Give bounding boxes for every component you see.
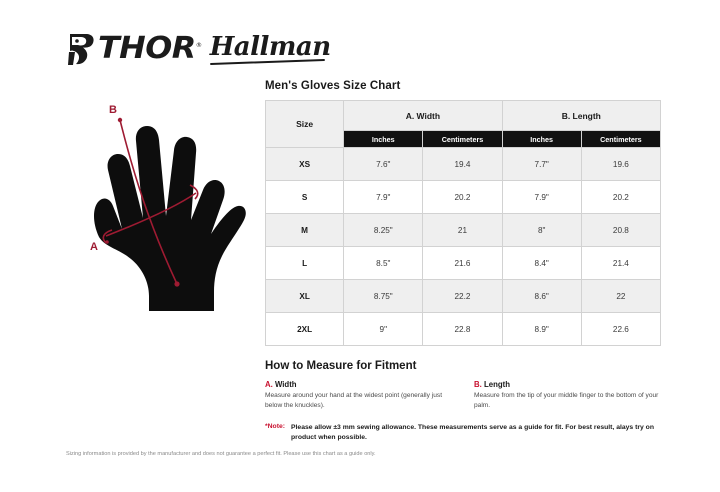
how-to-measure-title: How to Measure for Fitment [265, 360, 661, 372]
cell-size: XL [266, 280, 344, 313]
measure-width-heading: A. Width [265, 380, 452, 389]
cell-length-centimeters: 21.4 [581, 247, 660, 280]
measure-width-letter: A. [265, 380, 273, 389]
cell-length-centimeters: 20.8 [581, 214, 660, 247]
table-row: L 8.5" 21.6 8.4" 21.4 [266, 247, 661, 280]
table-row: S 7.9" 20.2 7.9" 20.2 [266, 181, 661, 214]
cell-width-inches: 8.75" [344, 280, 423, 313]
column-header-length-inches: Inches [502, 131, 581, 148]
cell-width-centimeters: 21 [423, 214, 502, 247]
cell-width-inches: 8.5" [344, 247, 423, 280]
thor-hammer-emblem [66, 32, 96, 66]
table-row: XL 8.75" 22.2 8.6" 22 [266, 280, 661, 313]
cell-width-inches: 7.9" [344, 181, 423, 214]
brand-header: THOR® Hallman [66, 32, 331, 66]
hallman-logo: Hallman [210, 36, 331, 62]
cell-size: L [266, 247, 344, 280]
measure-width-name: Width [273, 380, 297, 389]
cell-size: XS [266, 148, 344, 181]
cell-width-inches: 8.25" [344, 214, 423, 247]
cell-length-centimeters: 20.2 [581, 181, 660, 214]
cell-width-centimeters: 21.6 [423, 247, 502, 280]
cell-width-centimeters: 20.2 [423, 181, 502, 214]
cell-width-inches: 9" [344, 313, 423, 346]
cell-width-centimeters: 22.2 [423, 280, 502, 313]
column-group-length: B. Length [502, 101, 660, 131]
measure-length-block: B. Length Measure from the tip of your m… [474, 380, 661, 411]
diagram-label-b: B [109, 104, 117, 116]
cell-size: S [266, 181, 344, 214]
hallman-wordmark: Hallman [210, 32, 331, 62]
table-header-row-groups: Size A. Width B. Length [266, 101, 661, 131]
thor-logo: THOR® [66, 32, 196, 66]
cell-length-centimeters: 22.6 [581, 313, 660, 346]
cell-length-centimeters: 22 [581, 280, 660, 313]
diagram-label-a: A [90, 241, 98, 253]
column-header-width-inches: Inches [344, 131, 423, 148]
registered-trademark-icon: ® [196, 42, 202, 49]
page-title: Men's Gloves Size Chart [265, 80, 661, 92]
measure-length-letter: B. [474, 380, 482, 389]
measure-width-block: A. Width Measure around your hand at the… [265, 380, 452, 411]
cell-length-inches: 8.6" [502, 280, 581, 313]
note-label: *Note: [265, 423, 285, 430]
cell-length-inches: 8" [502, 214, 581, 247]
measure-length-heading: B. Length [474, 380, 661, 389]
thor-wordmark: THOR® [98, 34, 202, 64]
cell-length-centimeters: 19.6 [581, 148, 660, 181]
table-row: M 8.25" 21 8" 20.8 [266, 214, 661, 247]
note-row: *Note: Please allow ±3 mm sewing allowan… [265, 423, 661, 444]
cell-size: M [266, 214, 344, 247]
cell-size: 2XL [266, 313, 344, 346]
cell-length-inches: 8.4" [502, 247, 581, 280]
cell-width-inches: 7.6" [344, 148, 423, 181]
column-header-length-centimeters: Centimeters [581, 131, 660, 148]
size-chart-panel: Men's Gloves Size Chart Size A. Width B.… [265, 80, 661, 444]
cell-length-inches: 8.9" [502, 313, 581, 346]
cell-length-inches: 7.7" [502, 148, 581, 181]
hand-measurement-diagram: B A [72, 96, 262, 316]
cell-width-centimeters: 19.4 [423, 148, 502, 181]
table-row: 2XL 9" 22.8 8.9" 22.6 [266, 313, 661, 346]
table-row: XS 7.6" 19.4 7.7" 19.6 [266, 148, 661, 181]
column-group-width: A. Width [344, 101, 502, 131]
size-chart-table: Size A. Width B. Length Inches Centimete… [265, 100, 661, 346]
column-header-width-centimeters: Centimeters [423, 131, 502, 148]
measure-length-description: Measure from the tip of your middle fing… [474, 391, 661, 411]
measure-length-name: Length [482, 380, 510, 389]
column-header-size: Size [266, 101, 344, 148]
cell-length-inches: 7.9" [502, 181, 581, 214]
footer-disclaimer: Sizing information is provided by the ma… [66, 450, 396, 460]
how-to-measure-section: How to Measure for Fitment A. Width Meas… [265, 360, 661, 411]
note-text: Please allow ±3 mm sewing allowance. The… [291, 423, 661, 444]
measure-width-description: Measure around your hand at the widest p… [265, 391, 452, 411]
cell-width-centimeters: 22.8 [423, 313, 502, 346]
